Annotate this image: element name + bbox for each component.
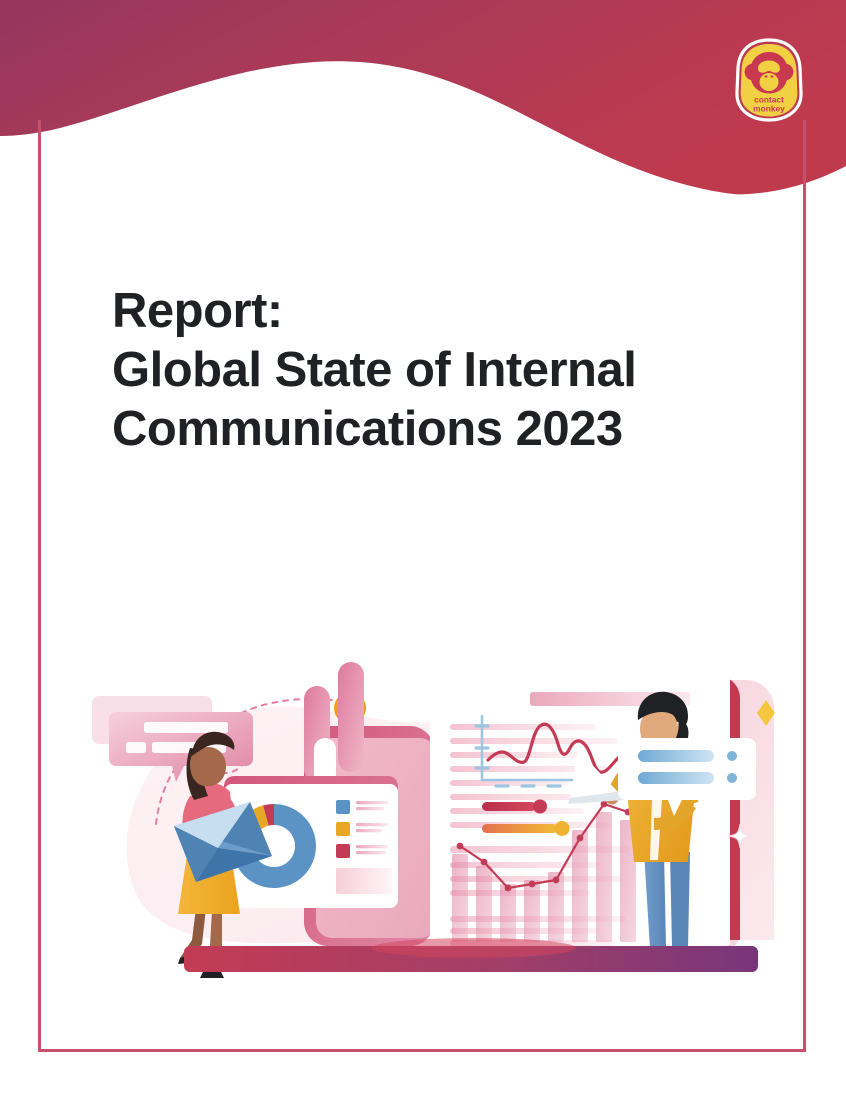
device-bar-tall (338, 662, 364, 772)
title-line-2: Global State of Internal (112, 341, 752, 400)
logo-text-line2: monkey (753, 104, 785, 114)
legend-swatch-3 (336, 844, 350, 858)
chat-line-1 (144, 722, 228, 733)
bubble-dot-1 (727, 751, 737, 761)
bubble-line-1 (638, 750, 714, 762)
bubble-dot-2 (727, 773, 737, 783)
legend-footer-block (336, 868, 392, 894)
title-line-1: Report: (112, 282, 752, 341)
top-wave-banner (0, 0, 846, 260)
contact-monkey-logo[interactable]: contact monkey (735, 38, 803, 122)
internal-communications-dashboard-illustration (78, 598, 778, 998)
page-title: Report: Global State of Internal Communi… (112, 282, 752, 459)
title-line-3: Communications 2023 (112, 400, 752, 459)
report-cover-page: contact monkey Report: Global State of I… (0, 0, 846, 1095)
bubble-line-2 (638, 772, 714, 784)
woman-right-leg-right (670, 852, 690, 948)
chat-line-2 (126, 742, 146, 753)
legend-swatch-1 (336, 800, 350, 814)
legend-swatch-2 (336, 822, 350, 836)
platform-highlight (372, 938, 576, 958)
